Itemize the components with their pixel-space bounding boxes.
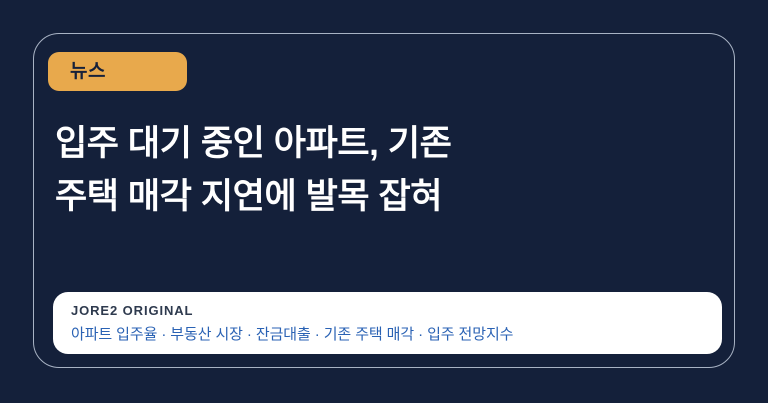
- headline-line-1: 입주 대기 중인 아파트, 기존: [55, 117, 695, 170]
- headline-line-2: 주택 매각 지연에 발목 잡혀: [55, 170, 695, 223]
- keyword-list: 아파트 입주율 · 부동산 시장 · 잔금대출 · 기존 주택 매각 · 입주 …: [71, 325, 722, 345]
- category-badge-label: 뉴스: [70, 62, 106, 81]
- source-panel: JORE2 ORIGINAL 아파트 입주율 · 부동산 시장 · 잔금대출 ·…: [53, 292, 722, 354]
- category-badge[interactable]: 뉴스: [48, 52, 187, 91]
- source-name: JORE2 ORIGINAL: [71, 303, 722, 319]
- news-card-canvas: 뉴스 입주 대기 중인 아파트, 기존 주택 매각 지연에 발목 잡혀 JORE…: [0, 0, 768, 403]
- headline: 입주 대기 중인 아파트, 기존 주택 매각 지연에 발목 잡혀: [55, 117, 695, 223]
